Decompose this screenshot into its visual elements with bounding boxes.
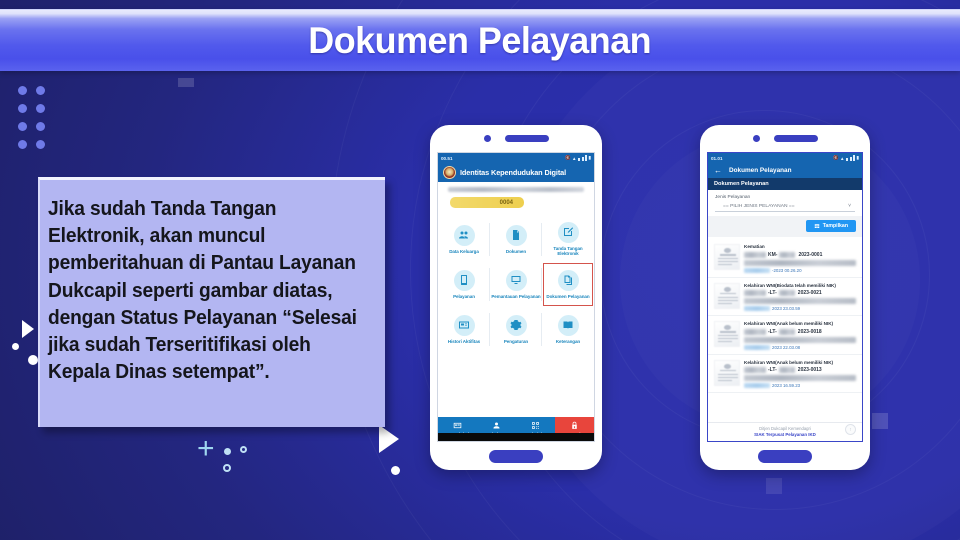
signal-icon: [846, 158, 848, 161]
action-row: Tampilkan: [708, 216, 862, 237]
menu-item-3[interactable]: Pelayanan: [438, 262, 490, 307]
document-details: Kelahiran WNI(Anak belum memiliki NIK)-L…: [744, 360, 856, 389]
qr-scan-icon: [531, 421, 540, 430]
redacted-field: [744, 375, 856, 381]
document-thumbnail: [714, 360, 740, 386]
signal-icon: [585, 155, 587, 161]
body-text: Jika sudah Tanda Tangan Elektronik, akan…: [48, 196, 359, 386]
redacted-field: [779, 367, 795, 373]
document-list-item[interactable]: Kelahiran WNI(Anak belum memiliki NIK)-L…: [708, 316, 862, 355]
camera-icon: [753, 135, 760, 142]
tampilkan-label: Tampilkan: [823, 223, 848, 229]
menu-item-label: Histori Aktifitas: [448, 339, 480, 345]
menu-item-label: Pemantauan Pelayanan: [491, 294, 540, 300]
status-bar: 01.01 🔇 ▲ ▮: [708, 153, 862, 163]
camera-icon: [484, 135, 491, 142]
signature-pen-icon: [558, 222, 579, 243]
play-triangle-decoration: [379, 425, 399, 453]
app-bar: Identitas Kependudukan Digital: [438, 163, 594, 182]
menu-grid: Data KeluargaDokumenTanda Tangan Elektro…: [438, 217, 594, 352]
redacted-field: [744, 260, 856, 266]
document-date: 2023 23.03.59: [772, 306, 800, 311]
menu-item-5[interactable]: Dokumen Pelayanan: [542, 262, 594, 307]
document-thumbnail: [714, 244, 740, 270]
speaker-icon: [505, 135, 549, 142]
gear-icon: [506, 315, 527, 336]
status-time: 00.51: [441, 156, 453, 161]
menu-item-label: Dokumen Pelayanan: [546, 294, 589, 300]
garuda-emblem-icon: [443, 166, 456, 179]
square-decoration: [872, 413, 888, 429]
history-card-icon: [454, 315, 475, 336]
document-details: KematianKM-2023-0001-2023 00.26.20: [744, 244, 856, 273]
phone-screen: 00.51 🔇 ▲ ▮ Identitas Kependudukan Digit…: [437, 152, 595, 442]
document-date-row: -2023 00.26.20: [744, 268, 856, 273]
arrow-left-icon[interactable]: ←: [714, 167, 722, 175]
mute-icon: 🔇: [565, 155, 571, 161]
square-decoration: [766, 478, 782, 494]
status-time: 01.01: [711, 156, 723, 161]
redacted-field: [744, 252, 766, 258]
status-bar: 00.51 🔇 ▲ ▮: [438, 153, 594, 163]
dot-decoration: [391, 466, 400, 475]
home-indicator: [758, 450, 812, 463]
speaker-icon: [774, 135, 818, 142]
redacted-field: [779, 329, 795, 335]
document-list-item[interactable]: Kelahiran WNI(Anak belum memiliki NIK)-L…: [708, 355, 862, 394]
redacted-field: [744, 290, 766, 296]
dot-decoration: [224, 448, 231, 455]
jenis-pelayanan-select[interactable]: == PILIH JENIS PELAYANAN == ˅: [715, 203, 855, 212]
document-thumbnail: [714, 283, 740, 309]
service-book-icon: [454, 270, 475, 291]
menu-item-0[interactable]: Data Keluarga: [438, 217, 490, 262]
redacted-field: [779, 290, 795, 296]
document-number-row: KM-2023-0001: [744, 252, 856, 258]
menu-item-8[interactable]: Keterangan: [542, 307, 594, 352]
filter-form: Jenis Pelayanan == PILIH JENIS PELAYANAN…: [708, 190, 862, 216]
signal-icon: [850, 157, 852, 162]
document-icon: [506, 225, 527, 246]
document-title: Kematian: [744, 244, 856, 250]
battery-icon: ▮: [589, 155, 591, 161]
phone-notch-bar: [430, 125, 602, 152]
redacted-field: [744, 268, 770, 273]
home-indicator: [489, 450, 543, 463]
status-icons: 🔇 ▲ ▮: [833, 155, 859, 161]
document-details: Kelahiran WNI(Biodata telah memiliki NIK…: [744, 283, 856, 312]
mute-icon: 🔇: [833, 155, 839, 161]
gesture-bar: [438, 433, 594, 441]
redacted-field: [744, 367, 766, 373]
menu-item-label: Tanda Tangan Elektronik: [543, 246, 593, 257]
document-number: 2023-0018: [798, 329, 822, 335]
document-code: -LT-: [768, 367, 777, 373]
document-number-row: -LT-2023-0018: [744, 329, 856, 335]
document-list-item[interactable]: Kelahiran WNI(Biodata telah memiliki NIK…: [708, 278, 862, 317]
document-list-item[interactable]: KematianKM-2023-0001-2023 00.26.20: [708, 239, 862, 278]
document-thumbnail: [714, 321, 740, 347]
app-footer: Ditjen Dukcapil Kemendagri SIAK Terpusat…: [708, 422, 862, 441]
jenis-pelayanan-label: Jenis Pelayanan: [715, 195, 855, 200]
redacted-name-text: [448, 187, 584, 192]
battery-icon: ▮: [857, 155, 859, 161]
document-date-row: 2023 23.03.59: [744, 306, 856, 311]
chevron-down-icon: ˅: [848, 203, 851, 209]
menu-item-4[interactable]: Pemantauan Pelayanan: [490, 262, 542, 307]
document-date: -2023 00.26.20: [772, 268, 802, 273]
document-number-row: -LT-2023-0021: [744, 290, 856, 296]
app-title: Identitas Kependudukan Digital: [460, 168, 566, 177]
app-bar-title: Dokumen Pelayanan: [729, 167, 792, 174]
redacted-field: [744, 383, 770, 388]
status-icons: 🔇 ▲ ▮: [565, 155, 591, 161]
documents-stack-icon: [558, 270, 579, 291]
document-date-row: 2023 16.59.23: [744, 383, 856, 388]
app-bar: ← Dokumen Pelayanan: [708, 163, 862, 178]
document-number-row: -LT-2023-0013: [744, 367, 856, 373]
section-title: Dokumen Pelayanan: [714, 181, 769, 187]
document-title: Kelahiran WNI(Anak belum memiliki NIK): [744, 360, 856, 366]
redacted-field: [744, 337, 856, 343]
slide-title-banner: Dokumen Pelayanan: [0, 9, 960, 71]
signal-icon: [582, 157, 584, 162]
redacted-field: [744, 298, 856, 304]
signal-icon: [578, 158, 580, 161]
phone-mockup-ikd-home: 00.51 🔇 ▲ ▮ Identitas Kependudukan Digit…: [430, 125, 602, 470]
id-card-icon: [453, 421, 462, 430]
menu-item-label: Dokumen: [506, 249, 526, 255]
document-list: KematianKM-2023-0001-2023 00.26.20Kelahi…: [708, 237, 862, 393]
menu-item-label: Pengaturan: [504, 339, 528, 345]
document-code: -LT-: [768, 290, 777, 296]
dot-decoration: [28, 355, 38, 365]
triangle-decoration: [22, 320, 34, 338]
redacted-field: [744, 329, 766, 335]
phone-notch-bar: [700, 125, 870, 152]
table-icon: [814, 223, 820, 229]
body-text-box: Jika sudah Tanda Tangan Elektronik, akan…: [38, 177, 385, 427]
document-number: 2023-0001: [798, 252, 822, 258]
document-title: Kelahiran WNI(Biodata telah memiliki NIK…: [744, 283, 856, 289]
menu-item-label: Pelayanan: [453, 294, 475, 300]
monitor-icon: [506, 270, 527, 291]
section-header: Dokumen Pelayanan: [708, 178, 862, 190]
document-date: 2023 22.03.08: [772, 345, 800, 350]
wifi-icon: ▲: [840, 156, 844, 161]
document-number: 2023-0013: [798, 367, 822, 373]
dot-decoration: [12, 343, 19, 350]
page-title: Dokumen Pelayanan: [309, 20, 652, 62]
badge-number: 0004: [500, 200, 513, 206]
menu-item-label: Keterangan: [556, 339, 580, 345]
document-code: KM-: [768, 252, 777, 258]
tampilkan-button[interactable]: Tampilkan: [806, 220, 856, 232]
wifi-icon: ▲: [572, 156, 576, 161]
document-number: 2023-0021: [798, 290, 822, 296]
plus-decoration: +: [197, 436, 215, 462]
document-date: 2023 16.59.23: [772, 383, 800, 388]
document-code: -LT-: [768, 329, 777, 335]
square-decoration: [178, 78, 194, 87]
signal-icon: [853, 155, 855, 161]
lock-icon: [570, 421, 579, 430]
scroll-top-label: ↑: [849, 427, 852, 433]
document-details: Kelahiran WNI(Anak belum memiliki NIK)-L…: [744, 321, 856, 350]
person-icon: [492, 421, 501, 430]
menu-item-6[interactable]: Histori Aktifitas: [438, 307, 490, 352]
nik-badge: 0004: [450, 197, 524, 208]
document-title: Kelahiran WNI(Anak belum memiliki NIK): [744, 321, 856, 327]
redacted-field: [744, 345, 770, 350]
phone-mockup-dokumen-pelayanan: 01.01 🔇 ▲ ▮ ← Dokumen Pelayanan Dokumen …: [700, 125, 870, 470]
menu-item-7[interactable]: Pengaturan: [490, 307, 542, 352]
menu-item-label: Data Keluarga: [449, 249, 479, 255]
ring-decoration: [240, 446, 247, 453]
book-open-icon: [558, 315, 579, 336]
menu-item-2[interactable]: Tanda Tangan Elektronik: [542, 217, 594, 262]
redacted-field: [744, 306, 770, 311]
redacted-field: [779, 252, 795, 258]
footer-line-2: SIAK Terpusat Pelayanan IKD: [708, 432, 862, 437]
menu-item-1[interactable]: Dokumen: [490, 217, 542, 262]
phone-screen: 01.01 🔇 ▲ ▮ ← Dokumen Pelayanan Dokumen …: [707, 152, 863, 442]
family-icon: [454, 225, 475, 246]
document-date-row: 2023 22.03.08: [744, 345, 856, 350]
scroll-top-button[interactable]: ↑: [845, 424, 856, 435]
select-value: == PILIH JENIS PELAYANAN ==: [723, 204, 795, 209]
ring-decoration: [223, 464, 231, 472]
